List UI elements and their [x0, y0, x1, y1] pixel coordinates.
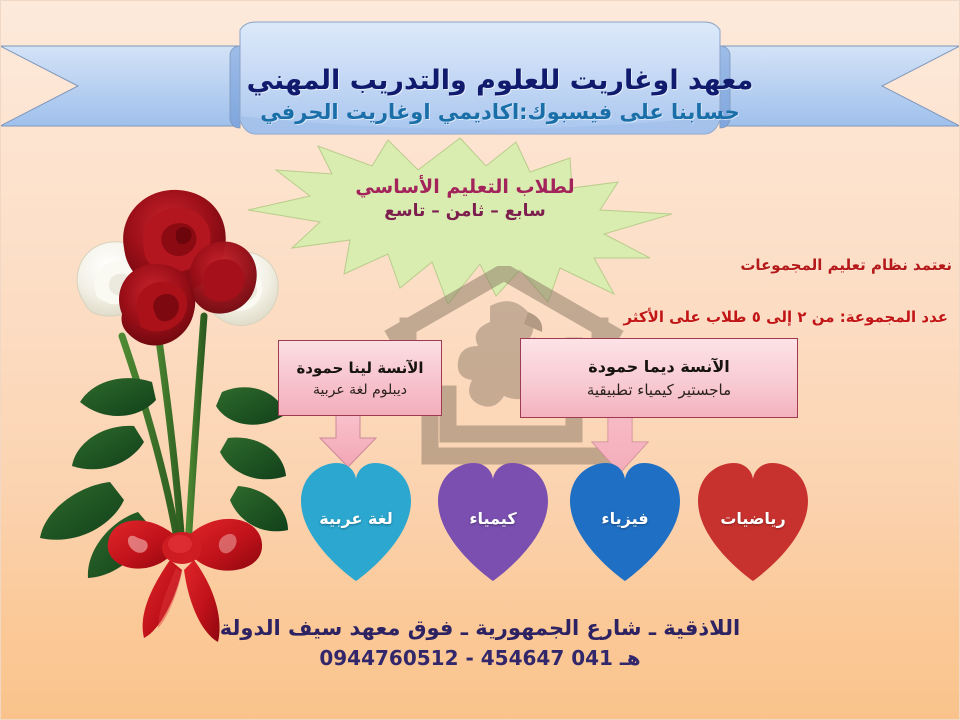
- ribbon-shape: [0, 16, 960, 148]
- subject-heart-physics[interactable]: فيزياء: [566, 455, 684, 583]
- teacher-card-arabic: الآنسة لينا حمودة ديبلوم لغة عربية: [278, 340, 442, 416]
- teacher-role-chemistry: ماجستير كيمياء تطبيقية: [587, 381, 731, 399]
- footer-contact-block: اللاذقية ـ شارع الجمهورية ـ فوق معهد سيف…: [0, 616, 960, 670]
- red-rose-middle: [119, 264, 195, 345]
- ribbon-center-panel: [240, 22, 720, 134]
- ribbon-left-wing: [0, 46, 240, 126]
- teacher-name-arabic: الآنسة لينا حمودة: [296, 359, 423, 377]
- group-size-note: عدد المجموعة: من ٢ إلى ٥ طلاب على الأكثر: [623, 308, 948, 326]
- heart-shape-physics: [566, 455, 684, 583]
- roses-bouquet-image: [26, 186, 326, 656]
- ribbon-left-fold: [230, 46, 240, 128]
- teacher-name-chemistry: الآنسة ديما حمودة: [588, 357, 729, 376]
- group-system-note: نعتمد نظام تعليم المجموعات: [740, 256, 952, 274]
- heart-shape-chemistry: [434, 455, 552, 583]
- teacher-role-arabic: ديبلوم لغة عربية: [313, 382, 407, 398]
- footer-address: اللاذقية ـ شارع الجمهورية ـ فوق معهد سيف…: [0, 616, 960, 640]
- ribbon-banner: معهد اوغاريت للعلوم والتدريب المهني حساب…: [0, 16, 960, 148]
- heart-shape-math: [694, 455, 812, 583]
- heart-shape-arabic: [297, 455, 415, 583]
- poster-canvas: معهد اوغاريت للعلوم والتدريب المهني حساب…: [0, 0, 960, 720]
- watermark-emblem-accent: [524, 312, 542, 332]
- footer-phone-numbers: هـ 041 454647 - 0944760512: [0, 646, 960, 670]
- subject-heart-chemistry[interactable]: كيمياء: [434, 455, 552, 583]
- ribbon-right-wing: [720, 46, 960, 126]
- ribbon-right-fold: [720, 46, 730, 128]
- subject-heart-arabic[interactable]: لغة عربية: [297, 455, 415, 583]
- teacher-card-chemistry: الآنسة ديما حمودة ماجستير كيمياء تطبيقية: [520, 338, 798, 418]
- watermark-letter-stroke2: [430, 416, 604, 456]
- subject-heart-math[interactable]: رياضيات: [694, 455, 812, 583]
